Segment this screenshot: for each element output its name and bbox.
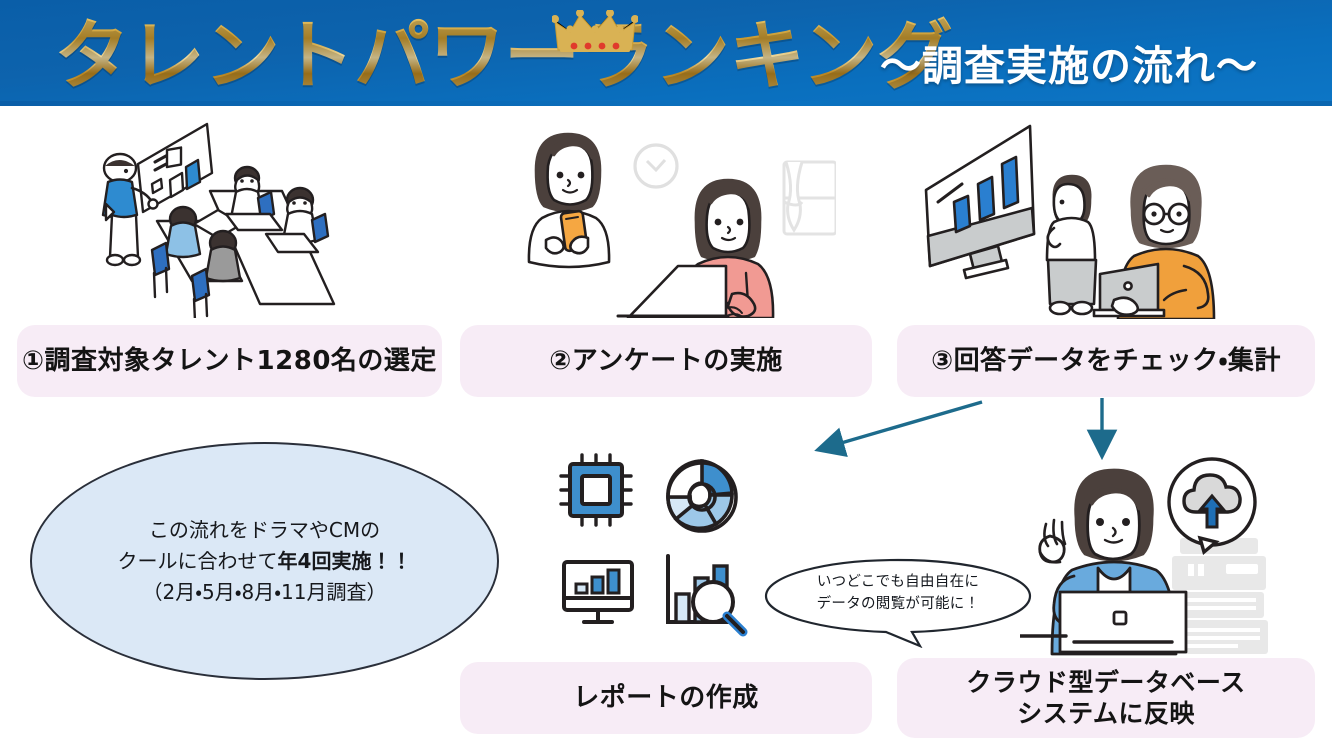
monitor-bar-chart-icon [564,562,632,622]
donut-chart-icon [668,461,736,531]
step-3-label: ③回答データをチェック・集計 [897,325,1315,397]
frequency-note-text: この流れをドラマやCMの クールに合わせて年4回実施！！ （2月・5月・8月・1… [118,515,412,608]
survey-respondents-illustration [500,118,836,318]
step-5-line-2: システムに反映 [966,698,1245,729]
note-line-3: （2月・5月・8月・11月調査） [118,577,412,608]
note-line-2-plain: クールに合わせて [118,549,278,573]
speech-bubble-line1: いつどこでも自由自在に [762,572,1034,594]
note-line-2-bold: 年4回実施！！ [278,549,412,573]
step-2-label: ②アンケートの実施 [460,325,872,397]
step-5-label: クラウド型データベース システムに反映 [897,658,1315,738]
window-curtain-decor [784,162,836,234]
analytics-icon-row [556,450,756,640]
speech-bubble: いつどこでも自由自在に データの閲覧が可能に！ [762,558,1034,634]
wall-clock-icon [635,145,677,187]
woman-with-laptop [618,180,773,318]
woman-ok-gesture-laptop [1020,470,1186,654]
header-subtitle: 〜調査実施の流れ〜 [880,32,1258,92]
meeting-presentation-illustration [82,118,382,318]
logo-area: タレントパワーランキング [46,6,856,102]
infographic-canvas: タレントパワーランキング 〜調査実施の流れ〜 [0,0,1332,750]
crown-icon [552,10,638,54]
bar-chart-magnifier-icon [668,556,743,632]
cloud-database-illustration [1020,440,1320,660]
header-banner: タレントパワーランキング 〜調査実施の流れ〜 [0,0,1332,106]
woman-with-smartphone [529,134,609,267]
data-check-illustration [902,114,1232,319]
step-1-label: ①調査対象タレント1280名の選定 [17,325,442,397]
note-line-1: この流れをドラマやCMの [118,515,412,546]
arrow-step3-to-report [824,402,982,448]
cpu-chip-icon [561,455,631,525]
frequency-note-ellipse: この流れをドラマやCMの クールに合わせて年4回実施！！ （2月・5月・8月・1… [30,442,499,680]
logo-title: タレントパワーランキング [54,16,952,96]
step-4-label: レポートの作成 [460,662,872,734]
speech-bubble-line2: データの閲覧が可能に！ [762,594,1034,616]
step-5-line-1: クラウド型データベース [966,667,1245,698]
speech-bubble-text: いつどこでも自由自在に データの閲覧が可能に！ [762,572,1034,616]
note-line-2: クールに合わせて年4回実施！！ [118,546,412,577]
